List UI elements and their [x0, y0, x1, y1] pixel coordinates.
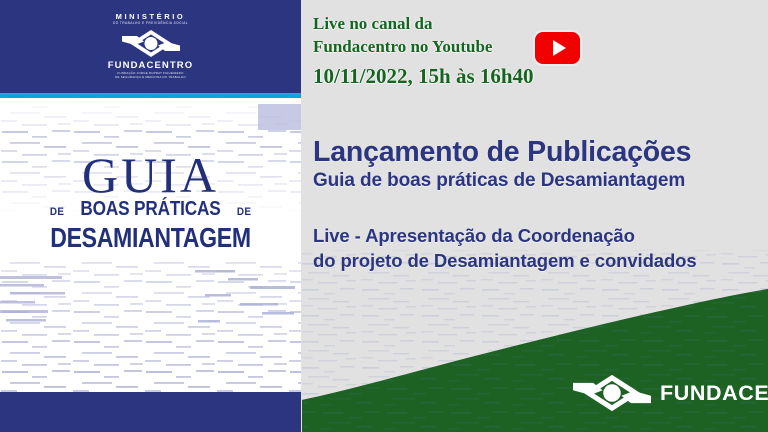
fundacentro-diamond-icon: [573, 372, 651, 414]
ministry-logo: MINISTÉRIO DO TRABALHO E PREVIDÊNCIA SOC…: [0, 12, 301, 79]
cover-title-guia: GUIA: [0, 150, 301, 200]
session-line-1: Live - Apresentação da Coordenação: [313, 223, 763, 248]
live-line-1: Live no canal da: [313, 12, 753, 35]
main-title-block: Lançamento de Publicações Guia de boas p…: [313, 136, 758, 193]
play-triangle-icon: [553, 40, 566, 56]
footer-brand-logo: FUNDACENTRO: [573, 372, 768, 414]
live-line-2: Fundacentro no Youtube: [313, 35, 753, 58]
cover-title-desamiantagem: DESAMIANTAGEM: [24, 223, 277, 253]
cover-title-de-2: DE: [237, 206, 252, 218]
ministry-subtitle: DO TRABALHO E PREVIDÊNCIA SOCIAL: [0, 21, 301, 26]
session-line-2: do projeto de Desamiantagem e convidados: [313, 248, 763, 273]
book-cover: MINISTÉRIO DO TRABALHO E PREVIDÊNCIA SOC…: [0, 0, 301, 432]
book-cover-footer-bar: [0, 392, 301, 432]
fundacentro-diamond-icon: [122, 28, 180, 59]
institute-subtitle-line2: DE SEGURANÇA E MEDICINA DO TRABALHO: [0, 75, 301, 79]
book-cover-title: GUIA DE BOAS PRÁTICAS DE DESAMIANTAGEM: [0, 150, 301, 253]
page-title: Lançamento de Publicações: [313, 136, 758, 169]
live-announcement: Live no canal da Fundacentro no Youtube …: [313, 12, 753, 90]
live-date: 10/11/2022, 15h às 16h40: [313, 62, 753, 90]
youtube-play-icon[interactable]: [535, 32, 580, 64]
footer-brand-name: FUNDACENTRO: [660, 382, 768, 404]
page-subtitle: Guia de boas práticas de Desamiantagem: [313, 169, 758, 193]
cover-title-boas-praticas: BOAS PRÁTICAS: [80, 198, 220, 221]
promo-banner: MINISTÉRIO DO TRABALHO E PREVIDÊNCIA SOC…: [0, 0, 768, 432]
cover-title-subline: DE BOAS PRÁTICAS DE: [0, 198, 301, 221]
institute-word: FUNDACENTRO: [0, 60, 301, 71]
session-description-block: Live - Apresentação da Coordenação do pr…: [313, 223, 763, 273]
ministry-word: MINISTÉRIO: [0, 12, 301, 21]
cover-title-de-1: DE: [50, 206, 65, 218]
